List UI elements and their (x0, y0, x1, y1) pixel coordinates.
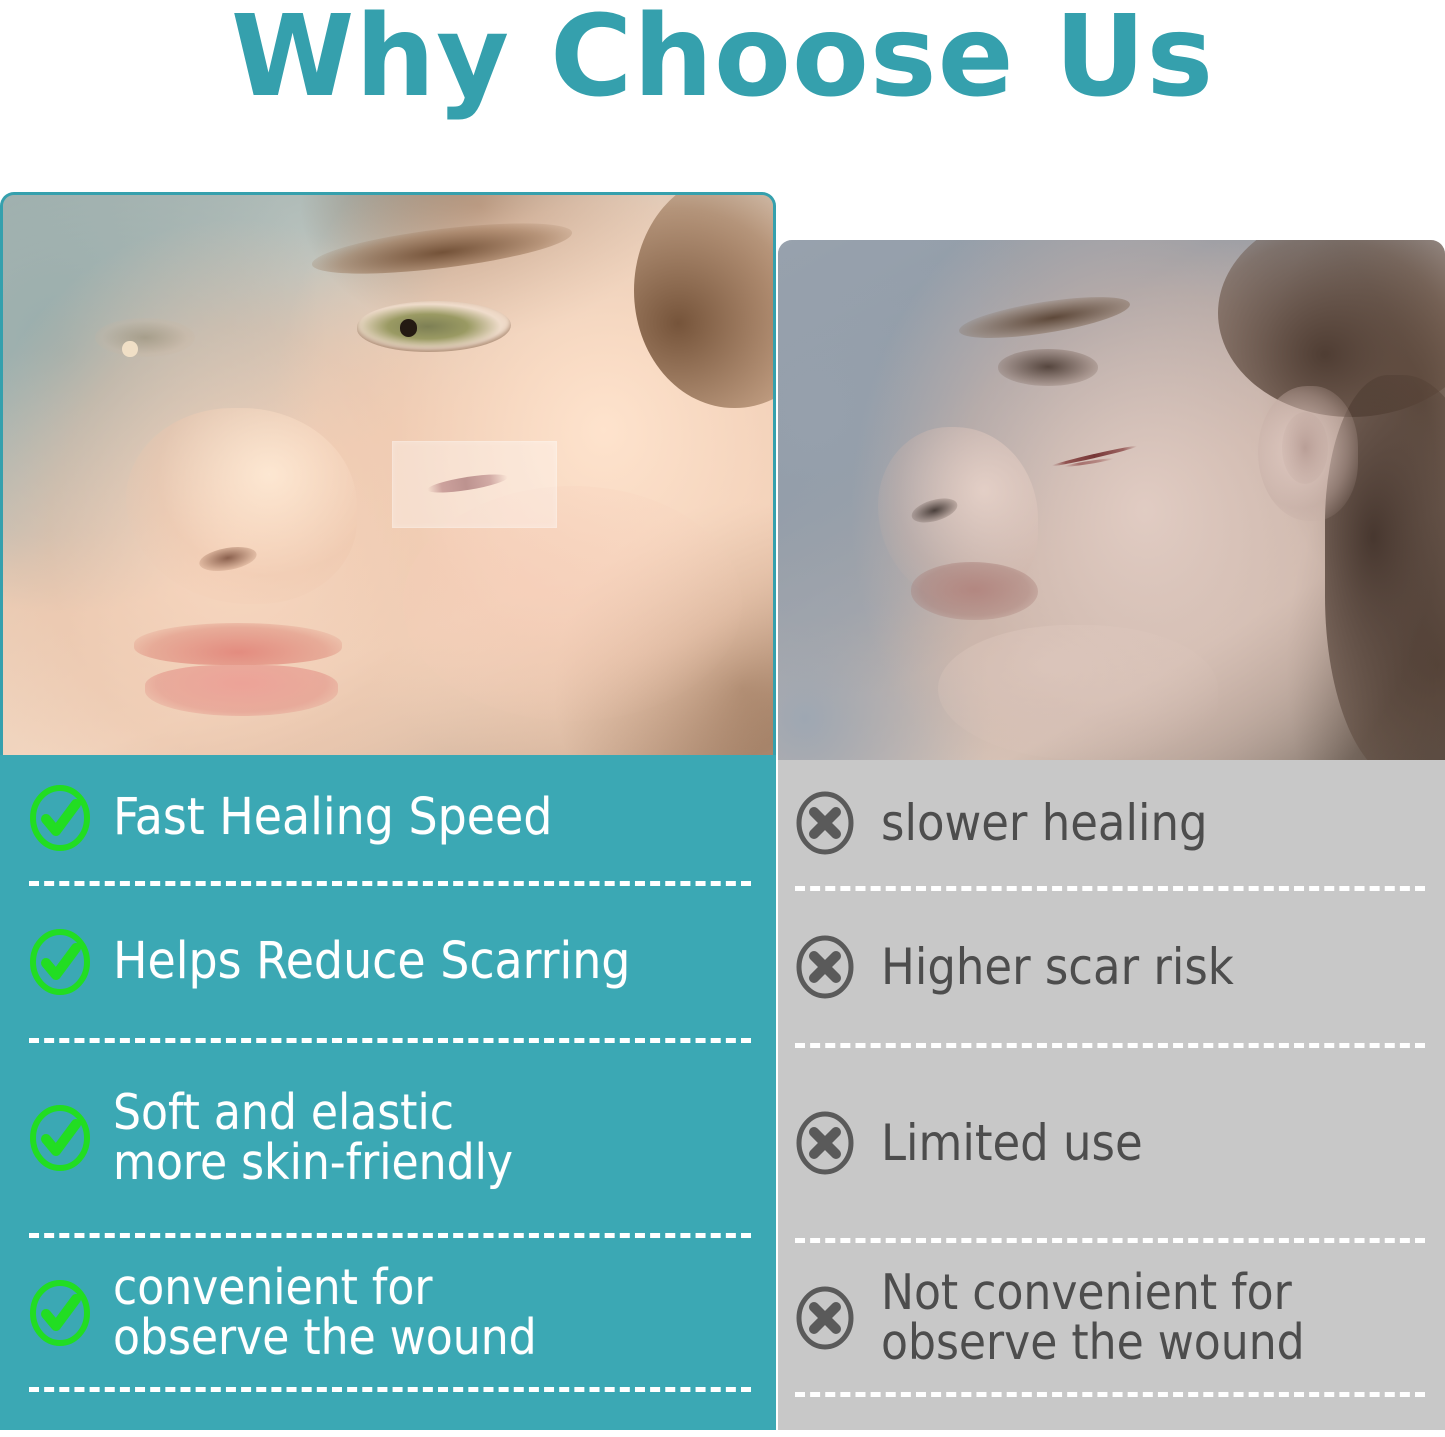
check-circle-icon (29, 928, 91, 996)
lower-lip-shape (145, 665, 338, 715)
eye-highlight (122, 341, 137, 358)
pros-list: Fast Healing Speed Helps Reduce Scarring… (0, 755, 776, 1430)
list-item-label: Limited use (881, 1118, 1143, 1169)
list-item-label: Not convenient for observe the wound (881, 1268, 1305, 1368)
pupil-shape (400, 319, 418, 336)
check-circle-icon (29, 784, 91, 852)
pros-column: Fast Healing Speed Helps Reduce Scarring… (0, 192, 776, 1430)
upper-lip-shape (134, 623, 342, 665)
list-item-label: slower healing (881, 798, 1208, 849)
cross-circle-icon (795, 1110, 855, 1176)
check-circle-icon (29, 1104, 91, 1172)
cons-photo (778, 240, 1445, 760)
inner-ear-shape (1282, 412, 1329, 485)
transparent-bandage (392, 441, 558, 528)
page-title: Why Choose Us (0, 0, 1445, 122)
list-item: Not convenient for observe the wound (795, 1243, 1425, 1397)
comparison-page: Why Choose Us Fast Hea (0, 0, 1445, 1437)
cross-circle-icon (795, 1285, 855, 1351)
list-item-label: Fast Healing Speed (113, 792, 552, 844)
cross-circle-icon (795, 934, 855, 1000)
list-item: Fast Healing Speed (29, 755, 751, 886)
list-item: Limited use (795, 1048, 1425, 1243)
cons-list: slower healing Higher scar risk Limited … (778, 760, 1445, 1430)
list-item-label: Soft and elastic more skin-friendly (113, 1088, 513, 1188)
list-item: slower healing (795, 760, 1425, 891)
lips-shape (911, 562, 1038, 619)
list-item: Soft and elastic more skin-friendly (29, 1043, 751, 1238)
cross-circle-icon (795, 790, 855, 856)
list-item: Higher scar risk (795, 891, 1425, 1048)
list-item-label: convenient for observe the wound (113, 1263, 537, 1363)
list-item-label: Helps Reduce Scarring (113, 936, 630, 988)
list-item: Helps Reduce Scarring (29, 886, 751, 1043)
pros-photo (0, 192, 776, 755)
eye-shape (998, 349, 1098, 385)
check-circle-icon (29, 1279, 91, 1347)
open-wound-shape (1051, 445, 1138, 468)
list-item: convenient for observe the wound (29, 1238, 751, 1392)
list-item-label: Higher scar risk (881, 942, 1234, 993)
cons-column: slower healing Higher scar risk Limited … (778, 240, 1445, 1430)
